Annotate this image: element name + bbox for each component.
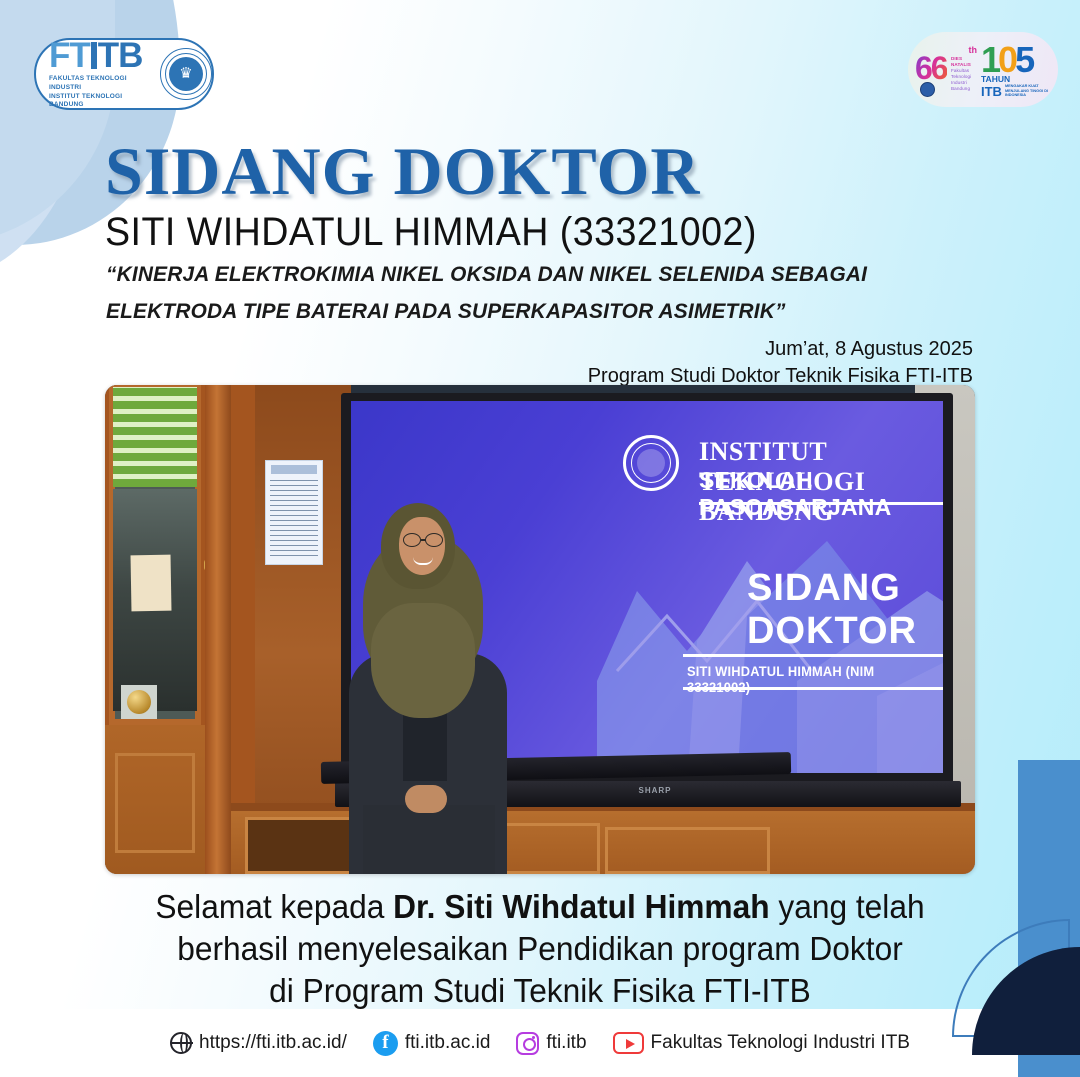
slide-divider-mid (683, 654, 943, 657)
fti-wordmark: FTTB FAKULTAS TEKNOLOGI INDUSTRI INSTITU… (49, 38, 152, 110)
event-date: Jum’at, 8 Agustus 2025 (588, 336, 973, 363)
badge-105-digit-5: 5 (1015, 42, 1032, 78)
badge-105-itb: ITB (981, 85, 1002, 98)
badge-105-subtitle: MENGAKAR KUAT MENJULANG TINGGI DI INDONE… (1005, 84, 1053, 98)
photo-cabinet-paper (131, 555, 172, 612)
itb-105-years-badge: 105 TAHUN ITB MENGAKAR KUAT MENJULANG TI… (981, 42, 1053, 98)
anniversary-badges: 66 th DIES NATALIS Fakultas Teknologi In… (908, 32, 1058, 107)
footer-youtube-label: Fakultas Teknologi Industri ITB (651, 1032, 910, 1054)
footer-item-website[interactable]: https://fti.itb.ac.id/ (170, 1032, 347, 1054)
slide-institution-line2: SEKOLAH PASCASARJANA (699, 467, 943, 521)
fti-subtitle-line2: INSTITUT TEKNOLOGI BANDUNG (49, 93, 152, 111)
photo-person-hands (405, 785, 447, 813)
slide-divider-top (699, 502, 943, 505)
footer-instagram-label: fti.itb (546, 1032, 586, 1054)
badge-105-number: 105 (981, 42, 1053, 78)
dies-natalis-66-badge: 66 th DIES NATALIS Fakultas Teknologi In… (913, 44, 975, 96)
fti-mark: FTTB (49, 38, 152, 73)
footer-website-label: https://fti.itb.ac.id/ (199, 1032, 347, 1054)
caption-part2: yang telah (770, 888, 925, 925)
photo-window-greenery (113, 387, 197, 487)
event-photo: INSTITUT TEKNOLOGI BANDUNG SEKOLAH PASCA… (105, 385, 975, 874)
fti-mark-ft: FT (49, 36, 90, 75)
slide-divider-bottom (683, 687, 943, 690)
footer-item-youtube[interactable]: Fakultas Teknologi Industri ITB (613, 1032, 910, 1054)
badge-105-digit-1: 1 (981, 42, 998, 78)
photo-person-glasses-bridge (421, 539, 426, 541)
photo-wall-notice-header (271, 465, 317, 474)
photo-person-hijab-drape (371, 603, 475, 718)
photo-cabinet-post (205, 385, 231, 874)
badge-66-number: 66 (915, 52, 947, 84)
caption-line-2: berhasil menyelesaikan Pendidikan progra… (79, 928, 1001, 970)
itb-seal-icon: ♛ (160, 48, 212, 100)
instagram-icon (516, 1032, 539, 1055)
footer-item-instagram[interactable]: fti.itb (516, 1032, 586, 1055)
badge-66-dies-natalis: DIES NATALIS Fakultas Teknologi Industri… (951, 56, 981, 93)
badge-66-th: th (969, 45, 978, 55)
photo-cabinet-door-3 (605, 827, 770, 874)
photo-tv-brand: SHARP (625, 786, 685, 796)
youtube-icon (613, 1032, 644, 1054)
badge-66-dies-label: DIES NATALIS (951, 56, 971, 67)
photo-cabinet-door-1 (245, 817, 365, 874)
footer-facebook-label: fti.itb.ac.id (405, 1032, 491, 1054)
fti-itb-logo: FTTB FAKULTAS TEKNOLOGI INDUSTRI INSTITU… (34, 38, 214, 110)
fti-mark-tb: TB (98, 36, 143, 75)
fti-subtitle: FAKULTAS TEKNOLOGI INDUSTRI INSTITUT TEK… (49, 75, 152, 110)
footer-contact-bar: https://fti.itb.ac.id/ f fti.itb.ac.id f… (0, 1009, 1080, 1077)
caption-line-3: di Program Studi Teknik Fisika FTI-ITB (79, 970, 1001, 1012)
photo-person-skirt (363, 805, 495, 874)
caption-line-1: Selamat kepada Dr. Siti Wihdatul Himmah … (79, 886, 1001, 928)
candidate-name: SITI WIHDATUL HIMMAH (33321002) (105, 212, 757, 252)
event-meta: Jum’at, 8 Agustus 2025 Program Studi Dok… (588, 336, 973, 390)
caption-part1: Selamat kepada (155, 888, 393, 925)
badge-66-seal-icon (920, 82, 935, 97)
slide-presenter: SITI WIHDATUL HIMMAH (NIM 33321002) (687, 663, 923, 695)
thesis-title: “KINERJA ELEKTROKIMIA NIKEL OKSIDA DAN N… (106, 256, 901, 330)
badge-105-digit-0: 0 (998, 42, 1015, 78)
photo-wall-notice-lines (270, 480, 318, 560)
photo-person-glasses-right (425, 533, 443, 547)
slide-heading: SIDANG DOKTOR (747, 567, 943, 653)
badge-66-sub: Fakultas Teknologi Industri Bandung (951, 68, 971, 92)
page-title: SIDANG DOKTOR (105, 137, 701, 205)
photo-cabinet-lower-panel (115, 753, 195, 853)
photo-person-glasses-left (403, 533, 421, 547)
slide-itb-seal-icon (623, 435, 679, 491)
globe-icon (170, 1032, 192, 1054)
facebook-icon: f (373, 1031, 398, 1056)
caption-doctor-name: Dr. Siti Wihdatul Himmah (393, 888, 769, 925)
fti-subtitle-line1: FAKULTAS TEKNOLOGI INDUSTRI (49, 75, 152, 93)
fti-mark-bar (91, 42, 97, 69)
badge-105-row: ITB MENGAKAR KUAT MENJULANG TINGGI DI IN… (981, 84, 1053, 98)
slide-seal-inner (637, 449, 665, 477)
footer-item-facebook[interactable]: f fti.itb.ac.id (373, 1031, 491, 1056)
ganesha-glyph-icon: ♛ (179, 66, 192, 81)
congratulation-caption: Selamat kepada Dr. Siti Wihdatul Himmah … (79, 886, 1001, 1013)
photo-trophy (127, 690, 151, 714)
